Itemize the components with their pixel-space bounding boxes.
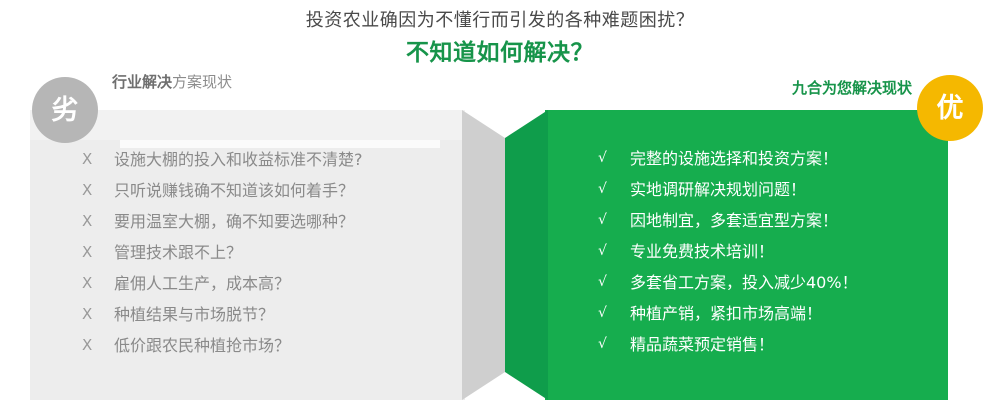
badge-advantage: 优 [917, 75, 983, 141]
fold-right-face [505, 110, 548, 400]
cross-mark-icon: X [82, 206, 114, 237]
left-list-item-text: 要用温室大棚，确不知要选哪种？ [114, 206, 354, 237]
center-fold-ribbon [462, 110, 548, 400]
left-problem-list: X 设施大棚的投入和收益标准不清楚? X 只听说赚钱确不知道该如何着手？ X 要… [82, 144, 452, 361]
cross-mark-icon: X [82, 330, 114, 361]
check-mark-icon: √ [598, 298, 630, 329]
right-section-heading: 九合为您解决现状 [792, 78, 912, 98]
left-section-heading-strong: 行业解决 [112, 73, 172, 91]
left-list-item-text: 雇佣人工生产，成本高？ [114, 268, 290, 299]
list-item: X 雇佣人工生产，成本高？ [82, 268, 452, 299]
cross-mark-icon: X [82, 299, 114, 330]
left-list-item-text: 种植结果与市场脱节？ [114, 299, 274, 330]
check-mark-icon: √ [598, 267, 630, 298]
list-item: X 只听说赚钱确不知道该如何着手？ [82, 175, 452, 206]
list-item: X 种植结果与市场脱节？ [82, 299, 452, 330]
badge-disadvantage-label: 劣 [52, 97, 79, 124]
right-list-item-text: 因地制宜，多套适宜型方案！ [630, 205, 838, 236]
left-list-item-text: 低价跟农民种植抢市场？ [114, 330, 290, 361]
left-list-item-text: 管理技术跟不上？ [114, 237, 242, 268]
right-list-item-text: 多套省工方案，投入减少40%！ [630, 267, 858, 298]
list-item: X 管理技术跟不上？ [82, 237, 452, 268]
fold-left-face [462, 110, 505, 400]
list-item: √ 完整的设施选择和投资方案！ [598, 143, 958, 174]
badge-advantage-label: 优 [937, 95, 964, 122]
left-section-heading-rest: 方案现状 [172, 73, 232, 91]
headline-block: 投资农业确因为不懂行而引发的各种难题困扰？ 不知道如何解决？ [0, 8, 1000, 70]
comparison-infographic: 投资农业确因为不懂行而引发的各种难题困扰？ 不知道如何解决？ 劣 优 行业解决方… [0, 0, 1000, 416]
right-solution-list: √ 完整的设施选择和投资方案！ √ 实地调研解决规划问题！ √ 因地制宜，多套适… [598, 143, 958, 360]
left-list-item-text: 设施大棚的投入和收益标准不清楚? [114, 144, 363, 175]
badge-disadvantage: 劣 [32, 77, 98, 143]
list-item: √ 因地制宜，多套适宜型方案！ [598, 205, 958, 236]
cross-mark-icon: X [82, 268, 114, 299]
right-list-item-text: 完整的设施选择和投资方案！ [630, 143, 838, 174]
list-item: √ 种植产销，紧扣市场高端！ [598, 298, 958, 329]
list-item: √ 实地调研解决规划问题！ [598, 174, 958, 205]
check-mark-icon: √ [598, 329, 630, 360]
check-mark-icon: √ [598, 143, 630, 174]
right-list-item-text: 专业免费技术培训！ [630, 236, 774, 267]
check-mark-icon: √ [598, 174, 630, 205]
list-item: X 要用温室大棚，确不知要选哪种？ [82, 206, 452, 237]
list-item: √ 精品蔬菜预定销售！ [598, 329, 958, 360]
right-list-item-text: 精品蔬菜预定销售！ [630, 329, 774, 360]
headline-emphasis: 不知道如何解决？ [0, 36, 1000, 70]
check-mark-icon: √ [598, 205, 630, 236]
cross-mark-icon: X [82, 237, 114, 268]
list-item: X 低价跟农民种植抢市场？ [82, 330, 452, 361]
list-item: X 设施大棚的投入和收益标准不清楚? [82, 144, 452, 175]
list-item: √ 专业免费技术培训！ [598, 236, 958, 267]
list-item: √ 多套省工方案，投入减少40%！ [598, 267, 958, 298]
left-section-heading: 行业解决方案现状 [112, 72, 232, 92]
check-mark-icon: √ [598, 236, 630, 267]
right-list-item-text: 种植产销，紧扣市场高端！ [630, 298, 822, 329]
right-list-item-text: 实地调研解决规划问题！ [630, 174, 806, 205]
cross-mark-icon: X [82, 144, 114, 175]
headline-question: 投资农业确因为不懂行而引发的各种难题困扰？ [0, 8, 1000, 34]
left-list-item-text: 只听说赚钱确不知道该如何着手？ [114, 175, 354, 206]
cross-mark-icon: X [82, 175, 114, 206]
